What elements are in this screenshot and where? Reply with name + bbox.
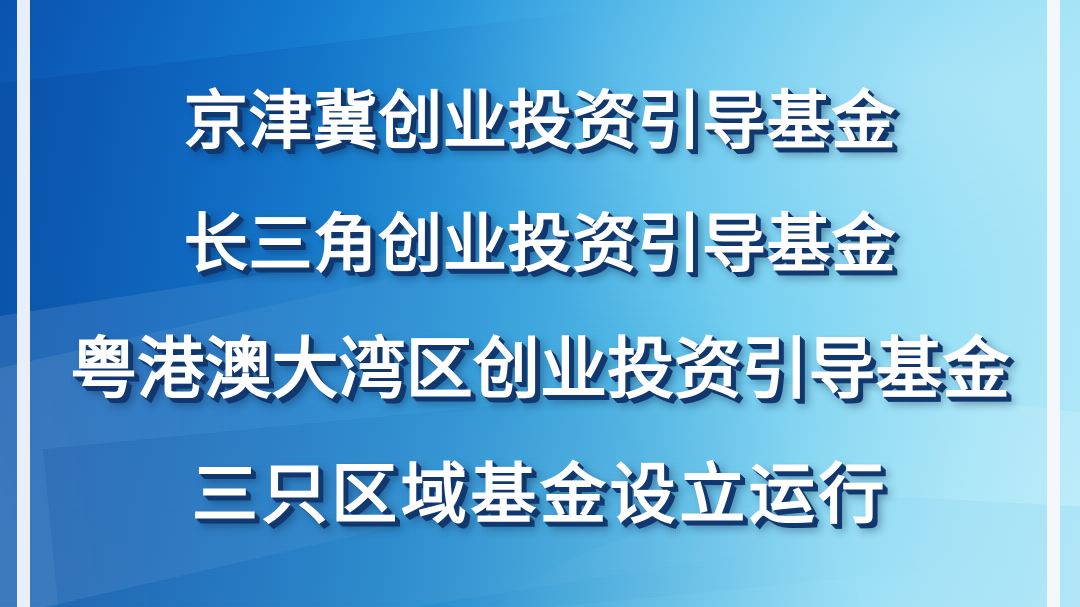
headline-line-4: 三只区域基金设立运行 bbox=[0, 462, 1080, 528]
headline-block: 京津冀创业投资引导基金 长三角创业投资引导基金 粤港澳大湾区创业投资引导基金 三… bbox=[0, 0, 1080, 607]
headline-line-3: 粤港澳大湾区创业投资引导基金 bbox=[0, 336, 1080, 403]
infographic-slide: 京津冀创业投资引导基金 长三角创业投资引导基金 粤港澳大湾区创业投资引导基金 三… bbox=[0, 0, 1080, 607]
headline-line-2: 长三角创业投资引导基金 bbox=[0, 213, 1080, 277]
headline-line-1: 京津冀创业投资引导基金 bbox=[0, 90, 1080, 154]
